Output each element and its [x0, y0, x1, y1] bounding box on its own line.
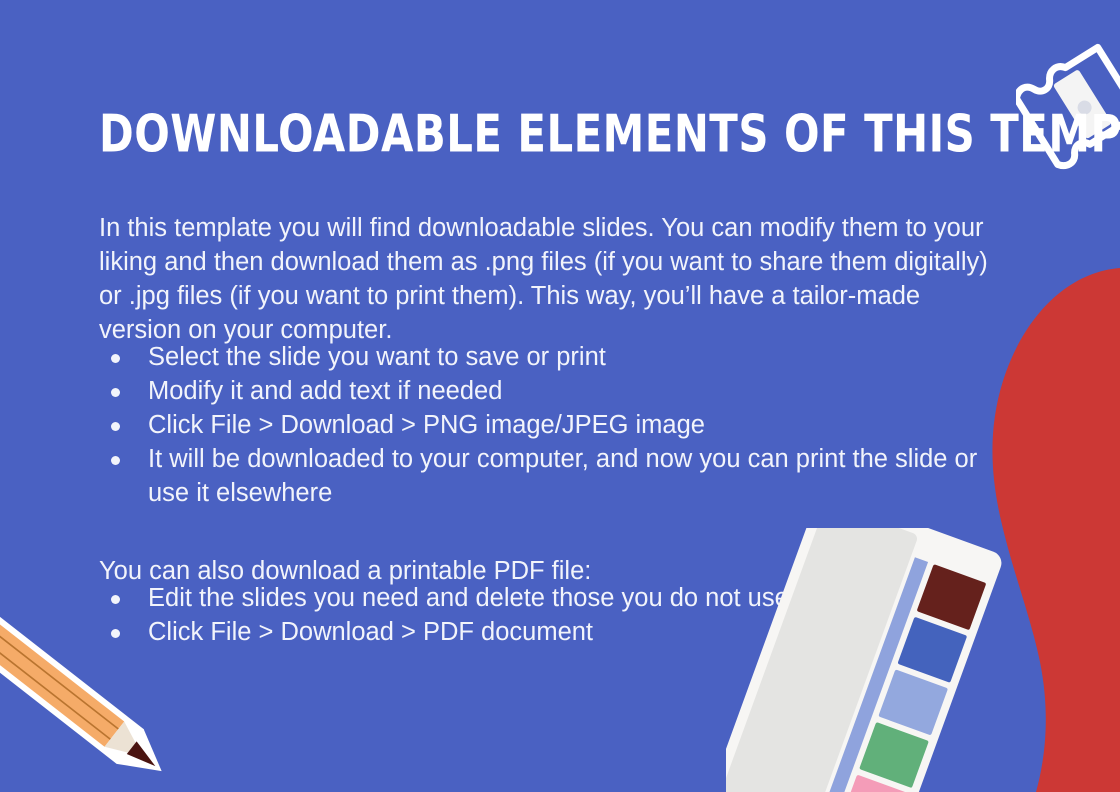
list-item-label: Edit the slides you need and delete thos…	[148, 584, 796, 612]
bullet-icon	[111, 422, 120, 431]
list-item: Click File > Download > PNG image/JPEG i…	[99, 409, 1009, 443]
list-item-label: Modify it and add text if needed	[148, 377, 502, 405]
bullet-icon	[111, 456, 120, 465]
list-item-label: It will be downloaded to your computer, …	[148, 445, 977, 507]
list-item-label: Select the slide you want to save or pri…	[148, 343, 606, 371]
bullet-icon	[111, 595, 120, 604]
bullet-icon	[111, 629, 120, 638]
list-item-label: Click File > Download > PDF document	[148, 618, 593, 646]
bullet-icon	[111, 354, 120, 363]
page-title: Downloadable elements of this template	[99, 108, 1120, 159]
list-item: Click File > Download > PDF document	[99, 616, 1009, 650]
list-item-label: Click File > Download > PNG image/JPEG i…	[148, 411, 705, 439]
intro-paragraph: In this template you will find downloada…	[99, 211, 1004, 347]
list-item: Modify it and add text if needed	[99, 375, 1009, 409]
pdf-steps-list: Edit the slides you need and delete thos…	[99, 582, 1009, 650]
slide-canvas: Downloadable elements of this template I…	[0, 0, 1120, 792]
bullet-icon	[111, 388, 120, 397]
list-item: Select the slide you want to save or pri…	[99, 341, 1009, 375]
list-item: Edit the slides you need and delete thos…	[99, 582, 1009, 616]
list-item: It will be downloaded to your computer, …	[99, 443, 1009, 510]
slide-content: Downloadable elements of this template I…	[0, 0, 1120, 792]
download-steps-list: Select the slide you want to save or pri…	[99, 341, 1009, 511]
